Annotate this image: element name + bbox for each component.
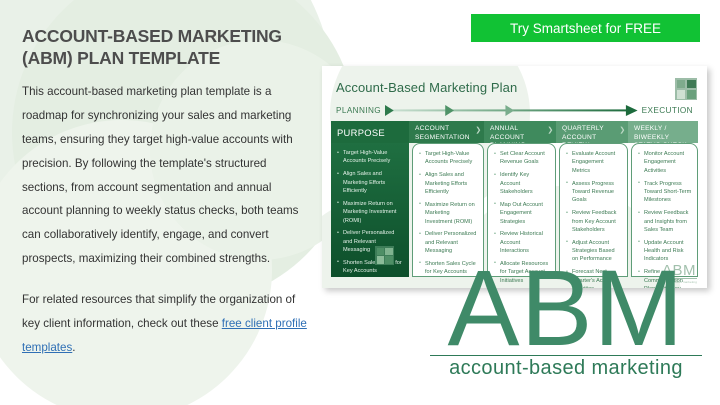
- grid-square: [377, 256, 384, 263]
- column-header-purpose: PURPOSE: [331, 121, 409, 143]
- flow-arrow-track: [385, 105, 638, 116]
- abm-overlay-rule: [430, 355, 702, 357]
- paragraph-2-suffix: .: [72, 341, 75, 354]
- description-paragraph-2: For related resources that simplify the …: [22, 288, 314, 360]
- list-item: Align Sales and Marketing Efforts Effici…: [343, 170, 404, 195]
- list-item: Update Account Health and Risk Indicator…: [644, 239, 692, 264]
- bullet-list: Monitor Account Engagement Activities Tr…: [632, 144, 697, 288]
- template-preview-card[interactable]: Account-Based Marketing Plan PLANNING: [322, 66, 707, 288]
- template-column-headers: PURPOSE ❯ACCOUNT SEGMENTATION ❯ANNUAL AC…: [331, 121, 698, 143]
- list-item: Forecast Next Quarter's Account Activiti…: [572, 268, 622, 288]
- planning-to-execution-flow: PLANNING EXECU: [336, 103, 693, 118]
- flow-start-label: PLANNING: [336, 106, 381, 115]
- list-item: Monitor Account Engagement Activities: [644, 150, 692, 175]
- list-item: Set Clear Account Revenue Goals: [500, 150, 550, 167]
- list-item: Identify Key Account Stakeholders: [500, 171, 550, 196]
- grid-squares-icon: [375, 246, 394, 265]
- column-header-weekly-biweekly-status-check: WEEKLY / BIWEEKLY STATUS CHECK: [628, 121, 698, 143]
- list-item: Evaluate Account Engagement Metrics: [572, 150, 622, 175]
- description-paragraph-1: This account-based marketing plan templa…: [22, 80, 314, 271]
- list-item: Map Out Account Engagement Strategies: [500, 201, 550, 226]
- bullet-list: Target High-Value Accounts Precisely Ali…: [331, 143, 409, 276]
- chevron-right-icon: ❯: [475, 127, 481, 134]
- list-item: Review Feedback and Insights from Sales …: [644, 209, 692, 234]
- template-title: Account-Based Marketing Plan: [336, 80, 517, 95]
- column-header-text: ACCOUNT SEGMENTATION: [415, 125, 470, 141]
- grid-square: [677, 90, 686, 99]
- bullet-list: Evaluate Account Engagement Metrics Asse…: [560, 144, 627, 288]
- list-item: Adjust Account Strategies Based on Perfo…: [572, 239, 622, 264]
- list-item: Deliver Personalized and Relevant Messag…: [343, 229, 404, 254]
- list-item: Maximize Return on Marketing Investment …: [425, 201, 478, 226]
- list-item: Maximize Return on Marketing Investment …: [343, 200, 404, 225]
- try-smartsheet-button[interactable]: Try Smartsheet for FREE: [471, 14, 700, 42]
- column-body-quarterly-account-review: Evaluate Account Engagement Metrics Asse…: [559, 143, 628, 277]
- list-item: Align Sales and Marketing Efforts Effici…: [425, 171, 478, 196]
- list-item: Deliver Personalized and Relevant Messag…: [425, 230, 478, 255]
- page-title: ACCOUNT-BASED MARKETING (ABM) PLAN TEMPL…: [22, 26, 322, 70]
- list-item: Shorten Sales Cycle for Key Accounts: [343, 259, 404, 276]
- bullet-list: Set Clear Account Revenue Goals Identify…: [488, 144, 555, 285]
- column-body-annual-account-planning: Set Clear Account Revenue Goals Identify…: [487, 143, 556, 277]
- column-header-annual-account-planning: ❯ANNUAL ACCOUNT PLANNING: [484, 121, 556, 143]
- list-item: Allocate Resources for Target Account In…: [500, 260, 550, 285]
- grid-square: [687, 80, 696, 89]
- list-item: Target High-Value Accounts Precisely: [425, 150, 478, 167]
- chevron-right-icon: ❯: [619, 127, 625, 134]
- description-text: This account-based marketing plan templa…: [22, 80, 314, 360]
- list-item: Target High-Value Accounts Precisely: [343, 149, 404, 166]
- grid-square: [677, 80, 686, 89]
- chevron-right-icon: ❯: [547, 127, 553, 134]
- list-item: Review Feedback from Key Account Stakeho…: [572, 209, 622, 234]
- list-item: Shorten Sales Cycle for Key Accounts: [425, 260, 478, 277]
- column-header-account-segmentation: ❯ACCOUNT SEGMENTATION: [409, 121, 484, 143]
- column-body-weekly-biweekly-status-check: Monitor Account Engagement Activities Tr…: [631, 143, 698, 277]
- grid-squares-icon: [675, 78, 697, 100]
- grid-square: [385, 248, 392, 255]
- column-body-account-segmentation: Target High-Value Accounts Precisely Ali…: [412, 143, 484, 277]
- grid-square: [385, 256, 392, 263]
- grid-square: [687, 90, 696, 99]
- list-item: Track Progress Toward Short-Term Milesto…: [644, 180, 692, 205]
- column-body-purpose: Target High-Value Accounts Precisely Ali…: [331, 143, 409, 277]
- flow-end-label: EXECUTION: [642, 106, 693, 115]
- list-item: Assess Progress Toward Revenue Goals: [572, 180, 622, 205]
- page-root: ACCOUNT-BASED MARKETING (ABM) PLAN TEMPL…: [0, 0, 720, 405]
- bullet-list: Target High-Value Accounts Precisely Ali…: [413, 144, 483, 277]
- list-item: Review Historical Account Interactions: [500, 230, 550, 255]
- template-columns: Target High-Value Accounts Precisely Ali…: [331, 143, 698, 277]
- grid-square: [377, 248, 384, 255]
- abm-overlay-subtitle: account-based marketing: [420, 358, 712, 378]
- list-item: Refine Communication Plans with Key Stak…: [644, 268, 692, 288]
- column-header-quarterly-account-review: ❯QUARTERLY ACCOUNT REVIEW: [556, 121, 628, 143]
